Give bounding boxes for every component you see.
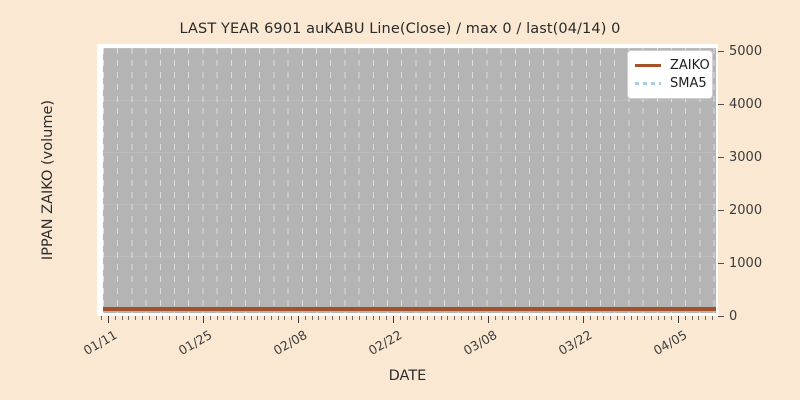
x-tick-minor <box>664 316 665 320</box>
x-tick-minor <box>115 316 116 320</box>
x-tick-minor <box>305 316 306 320</box>
x-tick-minor <box>556 316 557 320</box>
x-tick-minor <box>278 316 279 320</box>
x-tick-major <box>678 316 679 323</box>
x-tick-minor <box>332 316 333 320</box>
x-tick-minor <box>386 316 387 320</box>
x-tick-minor <box>176 316 177 320</box>
x-tick-minor <box>183 316 184 320</box>
plot-area[interactable] <box>97 44 718 316</box>
x-tick-minor <box>658 316 659 320</box>
x-axis: 01/1101/2502/0802/2203/0803/2204/05 <box>97 316 718 396</box>
series-line-zaiko <box>103 307 716 311</box>
legend-label-sma5: SMA5 <box>670 76 707 91</box>
x-tick-minor <box>644 316 645 320</box>
x-tick-label: 03/22 <box>545 327 594 364</box>
x-tick-minor <box>128 316 129 320</box>
x-tick-minor <box>651 316 652 320</box>
x-tick-minor <box>692 316 693 320</box>
x-tick-minor <box>346 316 347 320</box>
y-tick-label: 4000 <box>729 98 762 111</box>
y-axis-title: IPPAN ZAIKO (volume) <box>40 70 56 290</box>
x-tick-minor <box>149 316 150 320</box>
y-tick-label: 3000 <box>729 151 762 164</box>
x-tick-minor <box>379 316 380 320</box>
x-tick-minor <box>352 316 353 320</box>
dotted-line-swatch <box>635 78 661 88</box>
x-tick-label: 01/25 <box>165 327 214 364</box>
x-tick-minor <box>569 316 570 320</box>
x-tick-major <box>583 316 584 323</box>
legend-entry-sma5[interactable]: SMA5 <box>635 74 705 92</box>
x-tick-minor <box>122 316 123 320</box>
y-tick-mark <box>718 104 724 105</box>
y-tick-mark <box>718 157 724 158</box>
x-tick-minor <box>536 316 537 320</box>
x-tick-minor <box>705 316 706 320</box>
x-tick-minor <box>156 316 157 320</box>
x-tick-minor <box>603 316 604 320</box>
x-tick-minor <box>576 316 577 320</box>
x-tick-label: 02/22 <box>355 327 404 364</box>
x-tick-minor <box>549 316 550 320</box>
x-tick-minor <box>631 316 632 320</box>
chart-title: LAST YEAR 6901 auKABU Line(Close) / max … <box>0 21 800 37</box>
x-tick-minor <box>508 316 509 320</box>
x-tick-label: 03/08 <box>450 327 499 364</box>
x-tick-label: 01/11 <box>70 327 119 364</box>
x-tick-minor <box>671 316 672 320</box>
x-tick-minor <box>251 316 252 320</box>
x-tick-minor <box>617 316 618 320</box>
x-axis-title: DATE <box>97 368 718 384</box>
x-tick-minor <box>135 316 136 320</box>
x-tick-minor <box>502 316 503 320</box>
x-tick-label: 04/05 <box>640 327 689 364</box>
x-tick-minor <box>637 316 638 320</box>
x-tick-minor <box>529 316 530 320</box>
x-tick-minor <box>284 316 285 320</box>
y-axis: 010002000300040005000 <box>718 44 798 316</box>
x-tick-minor <box>563 316 564 320</box>
x-tick-minor <box>685 316 686 320</box>
x-tick-minor <box>264 316 265 320</box>
x-tick-minor <box>400 316 401 320</box>
x-tick-minor <box>468 316 469 320</box>
x-tick-minor <box>257 316 258 320</box>
legend-label-zaiko: ZAIKO <box>670 58 710 73</box>
x-tick-minor <box>590 316 591 320</box>
horizontal-gridlines <box>103 48 716 313</box>
x-tick-major <box>393 316 394 323</box>
x-tick-minor <box>712 316 713 320</box>
x-tick-minor <box>522 316 523 320</box>
y-tick-label: 2000 <box>729 204 762 217</box>
x-tick-minor <box>366 316 367 320</box>
x-tick-minor <box>481 316 482 320</box>
x-tick-minor <box>169 316 170 320</box>
chart-figure: LAST YEAR 6901 auKABU Line(Close) / max … <box>0 0 800 400</box>
x-tick-minor <box>244 316 245 320</box>
legend-entry-zaiko[interactable]: ZAIKO <box>635 56 705 74</box>
x-tick-minor <box>101 316 102 320</box>
x-tick-minor <box>441 316 442 320</box>
y-tick-mark <box>718 263 724 264</box>
y-tick-label: 0 <box>729 310 737 323</box>
x-tick-minor <box>434 316 435 320</box>
x-tick-minor <box>610 316 611 320</box>
x-tick-minor <box>420 316 421 320</box>
y-tick-mark <box>718 210 724 211</box>
y-tick-mark <box>718 316 724 317</box>
x-tick-minor <box>291 316 292 320</box>
x-tick-minor <box>413 316 414 320</box>
x-tick-minor <box>495 316 496 320</box>
x-tick-minor <box>624 316 625 320</box>
x-tick-minor <box>271 316 272 320</box>
plot-background <box>103 48 716 313</box>
x-tick-minor <box>447 316 448 320</box>
y-tick-mark <box>718 51 724 52</box>
x-tick-minor <box>359 316 360 320</box>
x-tick-minor <box>237 316 238 320</box>
x-tick-minor <box>515 316 516 320</box>
x-tick-minor <box>427 316 428 320</box>
x-tick-major <box>488 316 489 323</box>
x-tick-major <box>203 316 204 323</box>
x-tick-minor <box>373 316 374 320</box>
x-tick-label: 02/08 <box>260 327 309 364</box>
x-tick-minor <box>162 316 163 320</box>
x-tick-minor <box>325 316 326 320</box>
x-tick-minor <box>217 316 218 320</box>
x-tick-minor <box>312 316 313 320</box>
y-tick-label: 5000 <box>729 45 762 58</box>
x-tick-minor <box>230 316 231 320</box>
x-tick-minor <box>189 316 190 320</box>
x-tick-minor <box>223 316 224 320</box>
x-tick-minor <box>474 316 475 320</box>
x-tick-minor <box>210 316 211 320</box>
x-tick-minor <box>318 316 319 320</box>
y-tick-label: 1000 <box>729 257 762 270</box>
x-tick-minor <box>142 316 143 320</box>
x-tick-minor <box>454 316 455 320</box>
x-tick-major <box>298 316 299 323</box>
x-tick-major <box>108 316 109 323</box>
chart-legend[interactable]: ZAIKO SMA5 <box>627 50 713 99</box>
x-tick-minor <box>698 316 699 320</box>
x-tick-minor <box>461 316 462 320</box>
x-tick-minor <box>339 316 340 320</box>
x-tick-minor <box>196 316 197 320</box>
solid-line-swatch <box>635 60 661 70</box>
x-tick-minor <box>407 316 408 320</box>
x-tick-minor <box>542 316 543 320</box>
x-tick-minor <box>597 316 598 320</box>
